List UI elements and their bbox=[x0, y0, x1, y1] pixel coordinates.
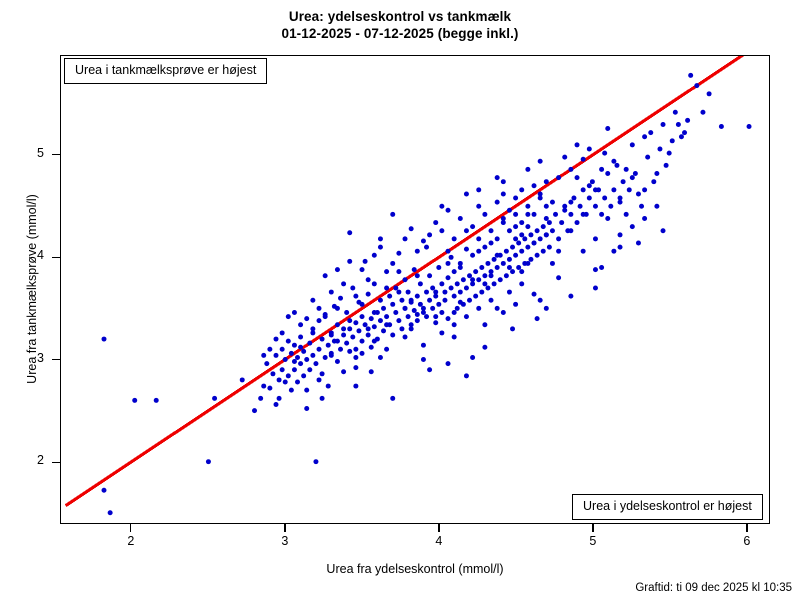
scatter-point bbox=[252, 408, 257, 413]
scatter-point bbox=[403, 335, 408, 340]
scatter-point bbox=[384, 322, 389, 327]
scatter-point bbox=[154, 398, 159, 403]
scatter-point bbox=[654, 171, 659, 176]
scatter-point bbox=[341, 326, 346, 331]
scatter-point bbox=[495, 200, 500, 205]
scatter-point bbox=[639, 204, 644, 209]
scatter-point bbox=[605, 171, 610, 176]
scatter-point bbox=[372, 339, 377, 344]
scatter-point bbox=[427, 298, 432, 303]
scatter-point bbox=[323, 273, 328, 278]
scatter-point bbox=[544, 204, 549, 209]
scatter-point bbox=[310, 353, 315, 358]
scatter-point bbox=[360, 314, 365, 319]
identity-line bbox=[66, 56, 754, 506]
scatter-point bbox=[399, 298, 404, 303]
scatter-point bbox=[624, 212, 629, 217]
scatter-point bbox=[304, 388, 309, 393]
scatter-point bbox=[298, 322, 303, 327]
scatter-point bbox=[378, 355, 383, 360]
scatter-point bbox=[599, 212, 604, 217]
scatter-point bbox=[442, 290, 447, 295]
x-tick-label: 2 bbox=[111, 534, 151, 548]
scatter-point bbox=[535, 228, 540, 233]
scatter-point bbox=[507, 265, 512, 270]
scatter-point bbox=[608, 204, 613, 209]
scatter-point bbox=[605, 216, 610, 221]
scatter-point bbox=[507, 208, 512, 213]
scatter-point bbox=[378, 236, 383, 241]
chart-subtitle: 01-12-2025 - 07-12-2025 (begge inkl.) bbox=[0, 25, 800, 42]
scatter-point bbox=[329, 290, 334, 295]
scatter-point bbox=[439, 310, 444, 315]
scatter-point bbox=[532, 292, 537, 297]
scatter-point bbox=[393, 310, 398, 315]
scatter-point bbox=[630, 175, 635, 180]
scatter-point bbox=[409, 298, 414, 303]
scatter-point bbox=[384, 269, 389, 274]
scatter-point bbox=[513, 224, 518, 229]
scatter-point bbox=[618, 245, 623, 250]
x-tick-mark bbox=[284, 524, 285, 532]
scatter-point bbox=[396, 318, 401, 323]
scatter-point bbox=[489, 241, 494, 246]
scatter-point bbox=[522, 236, 527, 241]
scatter-point bbox=[575, 175, 580, 180]
scatter-point bbox=[341, 281, 346, 286]
scatter-point bbox=[384, 314, 389, 319]
scatter-point bbox=[476, 306, 481, 311]
scatter-point bbox=[528, 232, 533, 237]
scatter-point bbox=[369, 369, 374, 374]
scatter-point bbox=[461, 277, 466, 282]
scatter-point bbox=[274, 402, 279, 407]
scatter-point bbox=[507, 290, 512, 295]
scatter-point bbox=[421, 306, 426, 311]
scatter-point bbox=[544, 306, 549, 311]
scatter-point bbox=[568, 200, 573, 205]
scatter-point bbox=[353, 320, 358, 325]
scatter-point bbox=[661, 122, 666, 127]
scatter-point bbox=[498, 277, 503, 282]
scatter-point bbox=[399, 326, 404, 331]
scatter-point bbox=[393, 285, 398, 290]
scatter-point bbox=[353, 347, 358, 352]
scatter-point bbox=[556, 275, 561, 280]
scatter-point bbox=[513, 196, 518, 201]
scatter-point bbox=[636, 191, 641, 196]
x-tick-mark bbox=[592, 524, 593, 532]
scatter-point bbox=[344, 310, 349, 315]
scatter-point bbox=[409, 226, 414, 231]
scatter-point bbox=[547, 220, 552, 225]
scatter-point bbox=[495, 236, 500, 241]
scatter-point bbox=[403, 236, 408, 241]
scatter-point bbox=[489, 298, 494, 303]
scatter-point bbox=[501, 261, 506, 266]
scatter-point bbox=[593, 267, 598, 272]
scatter-point bbox=[280, 330, 285, 335]
scatter-point bbox=[611, 249, 616, 254]
chart-title-line1: Urea: ydelseskontrol vs tankmælk bbox=[289, 9, 511, 24]
scatter-point bbox=[581, 157, 586, 162]
scatter-point bbox=[430, 306, 435, 311]
scatter-point bbox=[421, 238, 426, 243]
scatter-point bbox=[568, 212, 573, 217]
scatter-point bbox=[532, 241, 537, 246]
scatter-point bbox=[381, 328, 386, 333]
scatter-point bbox=[418, 281, 423, 286]
scatter-point bbox=[516, 241, 521, 246]
scatter-point bbox=[415, 312, 420, 317]
scatter-point bbox=[587, 147, 592, 152]
scatter-point bbox=[553, 212, 558, 217]
scatter-point bbox=[415, 273, 420, 278]
scatter-point bbox=[366, 326, 371, 331]
scatter-point bbox=[439, 330, 444, 335]
scatter-point bbox=[489, 273, 494, 278]
scatter-point bbox=[532, 183, 537, 188]
scatter-point bbox=[102, 337, 107, 342]
scatter-point bbox=[590, 179, 595, 184]
x-tick-mark bbox=[438, 524, 439, 532]
scatter-point bbox=[645, 155, 650, 160]
scatter-point bbox=[504, 273, 509, 278]
scatter-point bbox=[298, 335, 303, 340]
scatter-point bbox=[562, 155, 567, 160]
scatter-point bbox=[470, 224, 475, 229]
scatter-point bbox=[538, 159, 543, 164]
scatter-point bbox=[519, 249, 524, 254]
scatter-point bbox=[562, 208, 567, 213]
scatter-point bbox=[289, 388, 294, 393]
scatter-point bbox=[329, 332, 334, 337]
x-tick-label: 6 bbox=[727, 534, 767, 548]
scatter-point bbox=[372, 324, 377, 329]
scatter-point bbox=[528, 257, 533, 262]
scatter-point bbox=[495, 306, 500, 311]
scatter-point bbox=[495, 253, 500, 258]
scatter-point bbox=[132, 398, 137, 403]
scatter-point bbox=[212, 396, 217, 401]
scatter-point bbox=[307, 341, 312, 346]
scatter-point bbox=[458, 290, 463, 295]
scatter-point bbox=[550, 228, 555, 233]
scatter-point bbox=[347, 318, 352, 323]
scatter-point bbox=[614, 163, 619, 168]
scatter-point bbox=[292, 343, 297, 348]
scatter-point bbox=[581, 249, 586, 254]
scatter-point bbox=[369, 345, 374, 350]
annotation-yieldcontrol-highest: Urea i ydelseskontrol er højest bbox=[572, 494, 763, 520]
scatter-point bbox=[267, 386, 272, 391]
scatter-point bbox=[427, 273, 432, 278]
scatter-point bbox=[516, 265, 521, 270]
scatter-point bbox=[538, 236, 543, 241]
scatter-point bbox=[532, 212, 537, 217]
scatter-point bbox=[544, 179, 549, 184]
scatter-point bbox=[455, 281, 460, 286]
scatter-point bbox=[568, 228, 573, 233]
scatter-point bbox=[479, 290, 484, 295]
x-tick-mark bbox=[130, 524, 131, 532]
scatter-point bbox=[519, 220, 524, 225]
scatter-point bbox=[593, 204, 598, 209]
scatter-point bbox=[482, 345, 487, 350]
scatter-point bbox=[421, 357, 426, 362]
scatter-point bbox=[630, 224, 635, 229]
scatter-point bbox=[550, 200, 555, 205]
scatter-point bbox=[568, 294, 573, 299]
scatter-point bbox=[335, 359, 340, 364]
scatter-point bbox=[464, 191, 469, 196]
scatter-point bbox=[507, 228, 512, 233]
scatter-point bbox=[667, 151, 672, 156]
scatter-point bbox=[541, 249, 546, 254]
scatter-point bbox=[479, 265, 484, 270]
scatter-point bbox=[458, 216, 463, 221]
scatter-point bbox=[485, 261, 490, 266]
scatter-point bbox=[323, 314, 328, 319]
scatter-point bbox=[679, 134, 684, 139]
scatter-point bbox=[344, 341, 349, 346]
scatter-point bbox=[571, 196, 576, 201]
y-tick-mark bbox=[52, 257, 60, 258]
scatter-point bbox=[556, 175, 561, 180]
scatter-points-group bbox=[102, 73, 752, 515]
scatter-point bbox=[685, 118, 690, 123]
scatter-point bbox=[415, 318, 420, 323]
identity-reference-line bbox=[66, 56, 754, 506]
scatter-point bbox=[108, 510, 113, 515]
scatter-point bbox=[292, 367, 297, 372]
scatter-point bbox=[439, 204, 444, 209]
scatter-point bbox=[676, 122, 681, 127]
scatter-point bbox=[473, 269, 478, 274]
scatter-point bbox=[464, 247, 469, 252]
scatter-point bbox=[353, 365, 358, 370]
scatter-point bbox=[673, 110, 678, 115]
scatter-point bbox=[403, 306, 408, 311]
scatter-point bbox=[547, 245, 552, 250]
scatter-point bbox=[390, 261, 395, 266]
scatter-point bbox=[310, 330, 315, 335]
scatter-point bbox=[396, 269, 401, 274]
scatter-point bbox=[464, 314, 469, 319]
scatter-point bbox=[605, 126, 610, 131]
scatter-point bbox=[347, 230, 352, 235]
scatter-point bbox=[602, 196, 607, 201]
scatter-point bbox=[452, 322, 457, 327]
scatter-point bbox=[347, 259, 352, 264]
scatter-point bbox=[267, 347, 272, 352]
scatter-point bbox=[353, 355, 358, 360]
plot-area bbox=[60, 55, 770, 524]
scatter-point bbox=[427, 232, 432, 237]
scatter-point bbox=[277, 396, 282, 401]
scatter-point bbox=[452, 236, 457, 241]
scatter-point bbox=[304, 316, 309, 321]
scatter-point bbox=[335, 339, 340, 344]
annotation-tankmilk-highest: Urea i tankmælksprøve er højest bbox=[64, 58, 267, 84]
scatter-point bbox=[412, 267, 417, 272]
scatter-point bbox=[335, 267, 340, 272]
scatter-point bbox=[495, 265, 500, 270]
scatter-point bbox=[538, 298, 543, 303]
scatter-point bbox=[360, 302, 365, 307]
scatter-point bbox=[280, 347, 285, 352]
scatter-point bbox=[313, 459, 318, 464]
scatter-point bbox=[320, 396, 325, 401]
scatter-point bbox=[476, 236, 481, 241]
scatter-point bbox=[292, 359, 297, 364]
x-tick-label: 5 bbox=[573, 534, 613, 548]
scatter-point bbox=[544, 216, 549, 221]
scatter-point bbox=[550, 261, 555, 266]
scatter-plot-canvas bbox=[61, 56, 769, 523]
scatter-point bbox=[363, 259, 368, 264]
scatter-point bbox=[436, 302, 441, 307]
scatter-point bbox=[510, 269, 515, 274]
scatter-point bbox=[575, 142, 580, 147]
scatter-point bbox=[682, 130, 687, 135]
scatter-point bbox=[633, 171, 638, 176]
scatter-point bbox=[366, 277, 371, 282]
scatter-point bbox=[618, 232, 623, 237]
scatter-point bbox=[415, 249, 420, 254]
scatter-point bbox=[525, 212, 530, 217]
scatter-point bbox=[688, 73, 693, 78]
scatter-point bbox=[366, 332, 371, 337]
scatter-point bbox=[525, 224, 530, 229]
scatter-point bbox=[283, 379, 288, 384]
scatter-point bbox=[390, 302, 395, 307]
scatter-point bbox=[384, 285, 389, 290]
scatter-point bbox=[519, 281, 524, 286]
scatter-point bbox=[593, 187, 598, 192]
scatter-point bbox=[320, 371, 325, 376]
scatter-point bbox=[298, 361, 303, 366]
scatter-point bbox=[341, 332, 346, 337]
scatter-point bbox=[694, 83, 699, 88]
scatter-point bbox=[433, 320, 438, 325]
scatter-point bbox=[387, 294, 392, 299]
scatter-point bbox=[602, 151, 607, 156]
scatter-point bbox=[240, 377, 245, 382]
scatter-point bbox=[525, 261, 530, 266]
scatter-point bbox=[661, 228, 666, 233]
scatter-point bbox=[467, 273, 472, 278]
scatter-point bbox=[482, 245, 487, 250]
scatter-point bbox=[654, 204, 659, 209]
scatter-point bbox=[433, 314, 438, 319]
scatter-point bbox=[476, 249, 481, 254]
scatter-point bbox=[409, 326, 414, 331]
scatter-point bbox=[403, 277, 408, 282]
scatter-point bbox=[636, 241, 641, 246]
scatter-point bbox=[513, 253, 518, 258]
scatter-point bbox=[304, 357, 309, 362]
scatter-point bbox=[501, 310, 506, 315]
scatter-point bbox=[396, 251, 401, 256]
scatter-point bbox=[627, 187, 632, 192]
scatter-point bbox=[458, 265, 463, 270]
scatter-point bbox=[439, 228, 444, 233]
scatter-point bbox=[578, 204, 583, 209]
scatter-point bbox=[421, 343, 426, 348]
scatter-point bbox=[587, 183, 592, 188]
scatter-point bbox=[323, 355, 328, 360]
scatter-point bbox=[307, 367, 312, 372]
scatter-point bbox=[556, 249, 561, 254]
scatter-point bbox=[501, 179, 506, 184]
scatter-point bbox=[347, 326, 352, 331]
scatter-point bbox=[519, 187, 524, 192]
scatter-point bbox=[356, 328, 361, 333]
scatter-point bbox=[446, 208, 451, 213]
scatter-point bbox=[648, 130, 653, 135]
scatter-point bbox=[433, 220, 438, 225]
scatter-point bbox=[295, 355, 300, 360]
scatter-point bbox=[611, 187, 616, 192]
scatter-point bbox=[424, 314, 429, 319]
scatter-point bbox=[510, 326, 515, 331]
scatter-point bbox=[495, 175, 500, 180]
scatter-point bbox=[513, 236, 518, 241]
scatter-point bbox=[541, 224, 546, 229]
scatter-point bbox=[424, 290, 429, 295]
scatter-point bbox=[317, 347, 322, 352]
x-axis-title: Urea fra ydelseskontrol (mmol/l) bbox=[60, 562, 770, 576]
scatter-point bbox=[599, 265, 604, 270]
scatter-point bbox=[301, 349, 306, 354]
scatter-point bbox=[261, 384, 266, 389]
scatter-point bbox=[338, 347, 343, 352]
scatter-point bbox=[289, 351, 294, 356]
scatter-point bbox=[510, 245, 515, 250]
scatter-point bbox=[329, 353, 334, 358]
scatter-point bbox=[338, 296, 343, 301]
scatter-point bbox=[360, 267, 365, 272]
scatter-point bbox=[436, 265, 441, 270]
scatter-point bbox=[446, 261, 451, 266]
scatter-point bbox=[286, 314, 291, 319]
scatter-point bbox=[593, 236, 598, 241]
x-tick-label: 4 bbox=[419, 534, 459, 548]
scatter-point bbox=[599, 167, 604, 172]
scatter-point bbox=[446, 249, 451, 254]
scatter-point bbox=[258, 396, 263, 401]
scatter-point bbox=[593, 285, 598, 290]
scatter-point bbox=[384, 347, 389, 352]
scatter-point bbox=[507, 257, 512, 262]
scatter-point bbox=[449, 255, 454, 260]
scatter-point bbox=[369, 316, 374, 321]
scatter-point bbox=[326, 384, 331, 389]
scatter-point bbox=[489, 228, 494, 233]
scatter-point bbox=[464, 285, 469, 290]
scatter-point bbox=[501, 191, 506, 196]
scatter-point bbox=[544, 232, 549, 237]
scatter-point bbox=[482, 273, 487, 278]
scatter-point bbox=[418, 302, 423, 307]
scatter-point bbox=[452, 294, 457, 299]
scatter-point bbox=[353, 384, 358, 389]
scatter-point bbox=[624, 167, 629, 172]
scatter-point bbox=[581, 212, 586, 217]
scatter-point bbox=[206, 459, 211, 464]
graph-timestamp: Graftid: ti 09 dec 2025 kl 10:35 bbox=[635, 582, 792, 594]
